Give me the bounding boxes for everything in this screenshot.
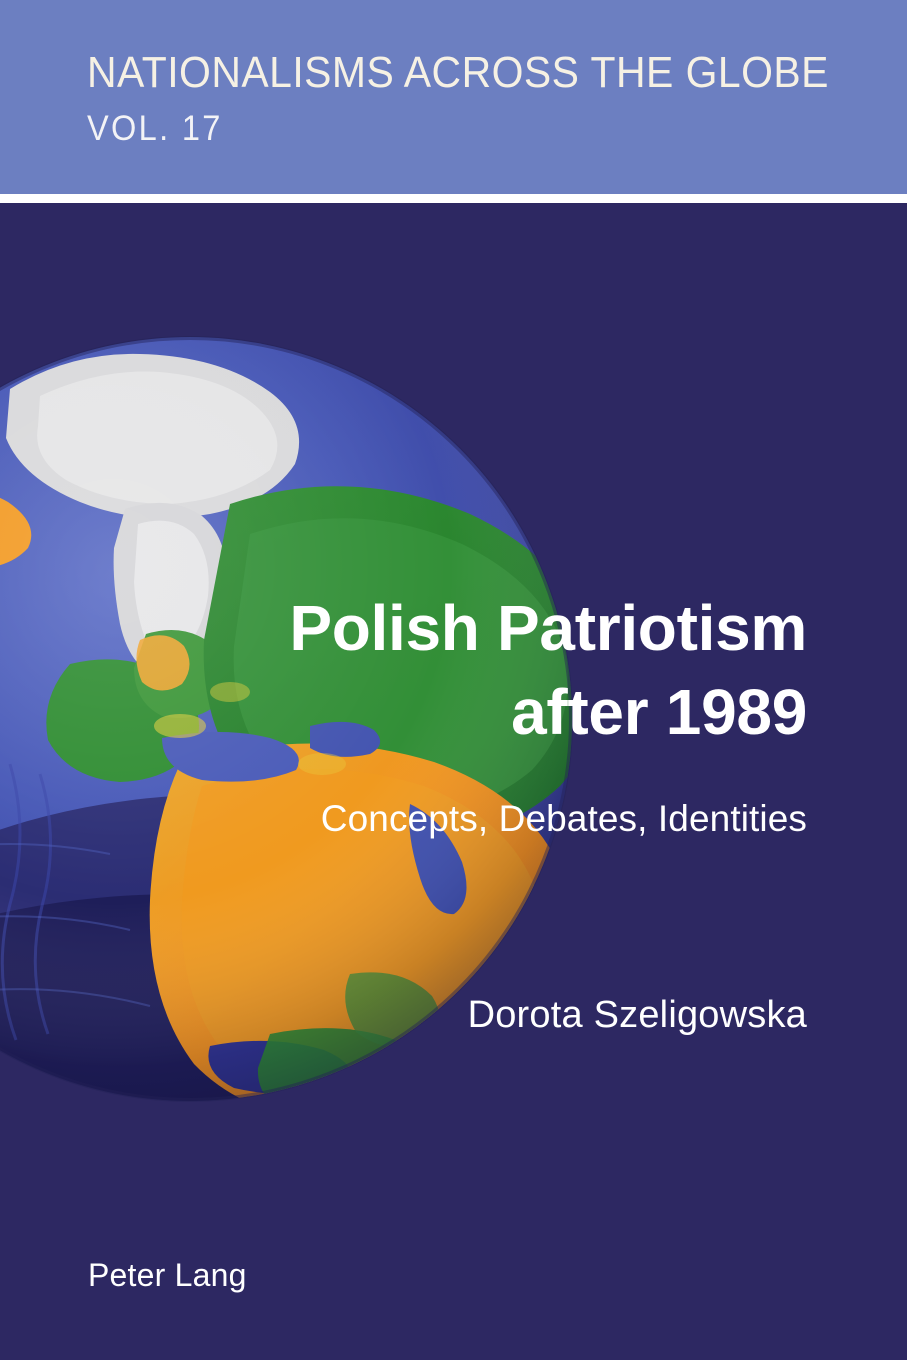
series-title: NATIONALISMS ACROSS THE GLOBE — [87, 48, 829, 98]
book-subtitle: Concepts, Debates, Identities — [0, 795, 807, 843]
book-cover: NATIONALISMS ACROSS THE GLOBE VOL. 17 — [0, 0, 907, 1360]
publisher-name: Peter Lang — [88, 1255, 247, 1295]
book-author: Dorota Szeligowska — [0, 991, 807, 1039]
title-line-2: after 1989 — [0, 670, 807, 754]
series-volume-label: VOL. 17 — [87, 108, 223, 150]
page-title: Polish Patriotism after 1989 — [0, 586, 807, 754]
arctic-ice — [6, 354, 299, 518]
header-separator — [0, 194, 907, 203]
title-line-1: Polish Patriotism — [0, 586, 807, 670]
title-block: Polish Patriotism after 1989 — [0, 586, 807, 754]
series-header-band: NATIONALISMS ACROSS THE GLOBE VOL. 17 — [0, 0, 907, 194]
cover-main-panel: Polish Patriotism after 1989 Concepts, D… — [0, 203, 907, 1360]
